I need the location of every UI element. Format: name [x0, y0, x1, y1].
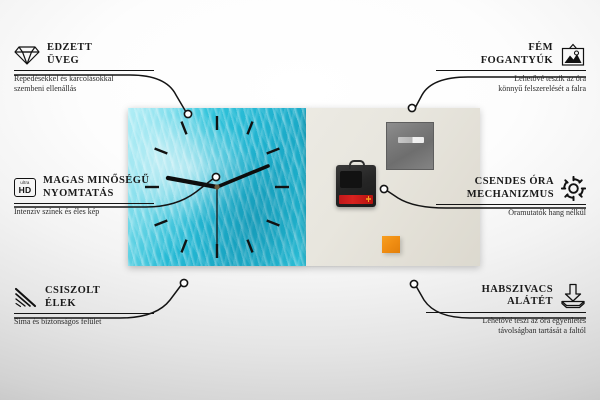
feature-description: Intenzív színek és éles kép [14, 207, 154, 217]
arrow-down-pad-icon [560, 283, 586, 309]
gear-icon [561, 176, 586, 201]
feature-description: Óramutatók hang nélkül [436, 208, 586, 218]
feature-divider [14, 313, 154, 314]
connector-dot-handles [408, 104, 415, 111]
feature-title: HABSZIVACS ALÁTÉT [482, 284, 553, 309]
connector-dot-silent [380, 185, 387, 192]
feature-title: MAGAS MINŐSÉGŰ NYOMTATÁS [43, 175, 149, 200]
feature-title: CSISZOLT ÉLEK [45, 285, 100, 310]
connector-dot-print [212, 173, 219, 180]
feature-divider [436, 70, 586, 71]
diagonal-lines-icon [14, 287, 38, 309]
infographic-canvas: EDZETT ÜVEG Repedésekkel és karcolásokka… [0, 0, 600, 400]
feature-silent-mechanism[interactable]: CSENDES ÓRA MECHANIZMUS Óramutatók hang … [436, 176, 586, 218]
feature-header: EDZETT ÜVEG [14, 42, 154, 67]
feature-tempered-glass[interactable]: EDZETT ÜVEG Repedésekkel és karcolásokka… [14, 42, 154, 94]
feature-header: CSENDES ÓRA MECHANIZMUS [436, 176, 586, 201]
feature-description: Sima és biztonságos felület [14, 317, 154, 327]
diamond-icon [14, 44, 40, 66]
ultra-hd-icon: ultra HD [14, 178, 36, 197]
feature-description: Lehetővé teszik az óra könnyű felszerelé… [436, 74, 586, 94]
feature-header: FÉM FOGANTYÚK [436, 42, 586, 67]
connector-dot-foam [410, 280, 417, 287]
feature-divider [14, 203, 154, 204]
feature-header: CSISZOLT ÉLEK [14, 285, 154, 310]
feature-high-quality-print[interactable]: ultra HD MAGAS MINŐSÉGŰ NYOMTATÁS Intenz… [14, 175, 154, 217]
feature-title: CSENDES ÓRA MECHANIZMUS [467, 176, 554, 201]
ultra-hd-icon-main: HD [19, 186, 32, 195]
connector-dot-tempered-glass [184, 110, 191, 117]
feature-description: Repedésekkel és karcolásokkal szembeni e… [14, 74, 154, 94]
feature-header: ultra HD MAGAS MINŐSÉGŰ NYOMTATÁS [14, 175, 154, 200]
feature-title: FÉM FOGANTYÚK [481, 42, 553, 67]
feature-divider [436, 204, 586, 205]
feature-description: Lehetővé teszi az óra egyenletes távolsá… [426, 316, 586, 336]
feature-title: EDZETT ÜVEG [47, 42, 92, 67]
feature-divider [14, 70, 154, 71]
connector-dot-edges [180, 279, 187, 286]
feature-polished-edges[interactable]: CSISZOLT ÉLEK Sima és biztonságos felüle… [14, 285, 154, 327]
feature-header: HABSZIVACS ALÁTÉT [426, 283, 586, 309]
feature-divider [426, 312, 586, 313]
picture-hanger-icon [560, 43, 586, 67]
feature-metal-handles[interactable]: FÉM FOGANTYÚK Lehetővé teszik az óra kön… [436, 42, 586, 94]
feature-foam-pad[interactable]: HABSZIVACS ALÁTÉT Lehetővé teszi az óra … [426, 283, 586, 336]
